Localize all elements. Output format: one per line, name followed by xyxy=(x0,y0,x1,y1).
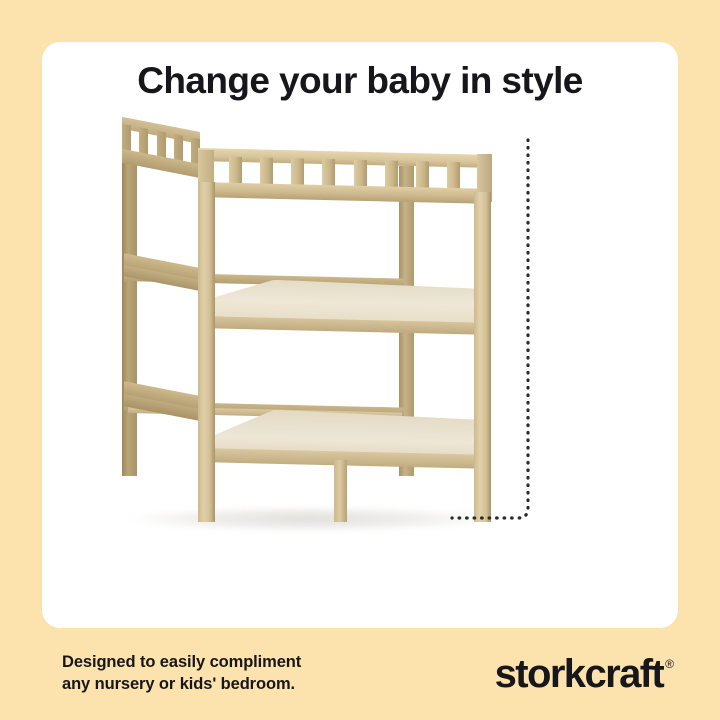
footer-tagline-line1: Designed to easily compliment xyxy=(62,652,301,674)
brand-logo-wordmark: storkcraft xyxy=(495,654,664,694)
front-left-leg xyxy=(198,182,215,522)
footer-tagline-line2: any nursery or kids' bedroom. xyxy=(62,674,301,696)
footer-tagline: Designed to easily compliment any nurser… xyxy=(62,652,301,696)
brand-logo: storkcraft ® xyxy=(495,654,674,694)
center-support-leg xyxy=(334,460,347,522)
floor-shadow xyxy=(130,506,490,532)
rear-left-leg xyxy=(122,158,137,476)
product-image xyxy=(0,120,636,550)
registered-trademark-symbol: ® xyxy=(665,658,674,670)
page-title: Change your baby in style xyxy=(0,60,720,102)
front-right-leg xyxy=(474,192,491,522)
